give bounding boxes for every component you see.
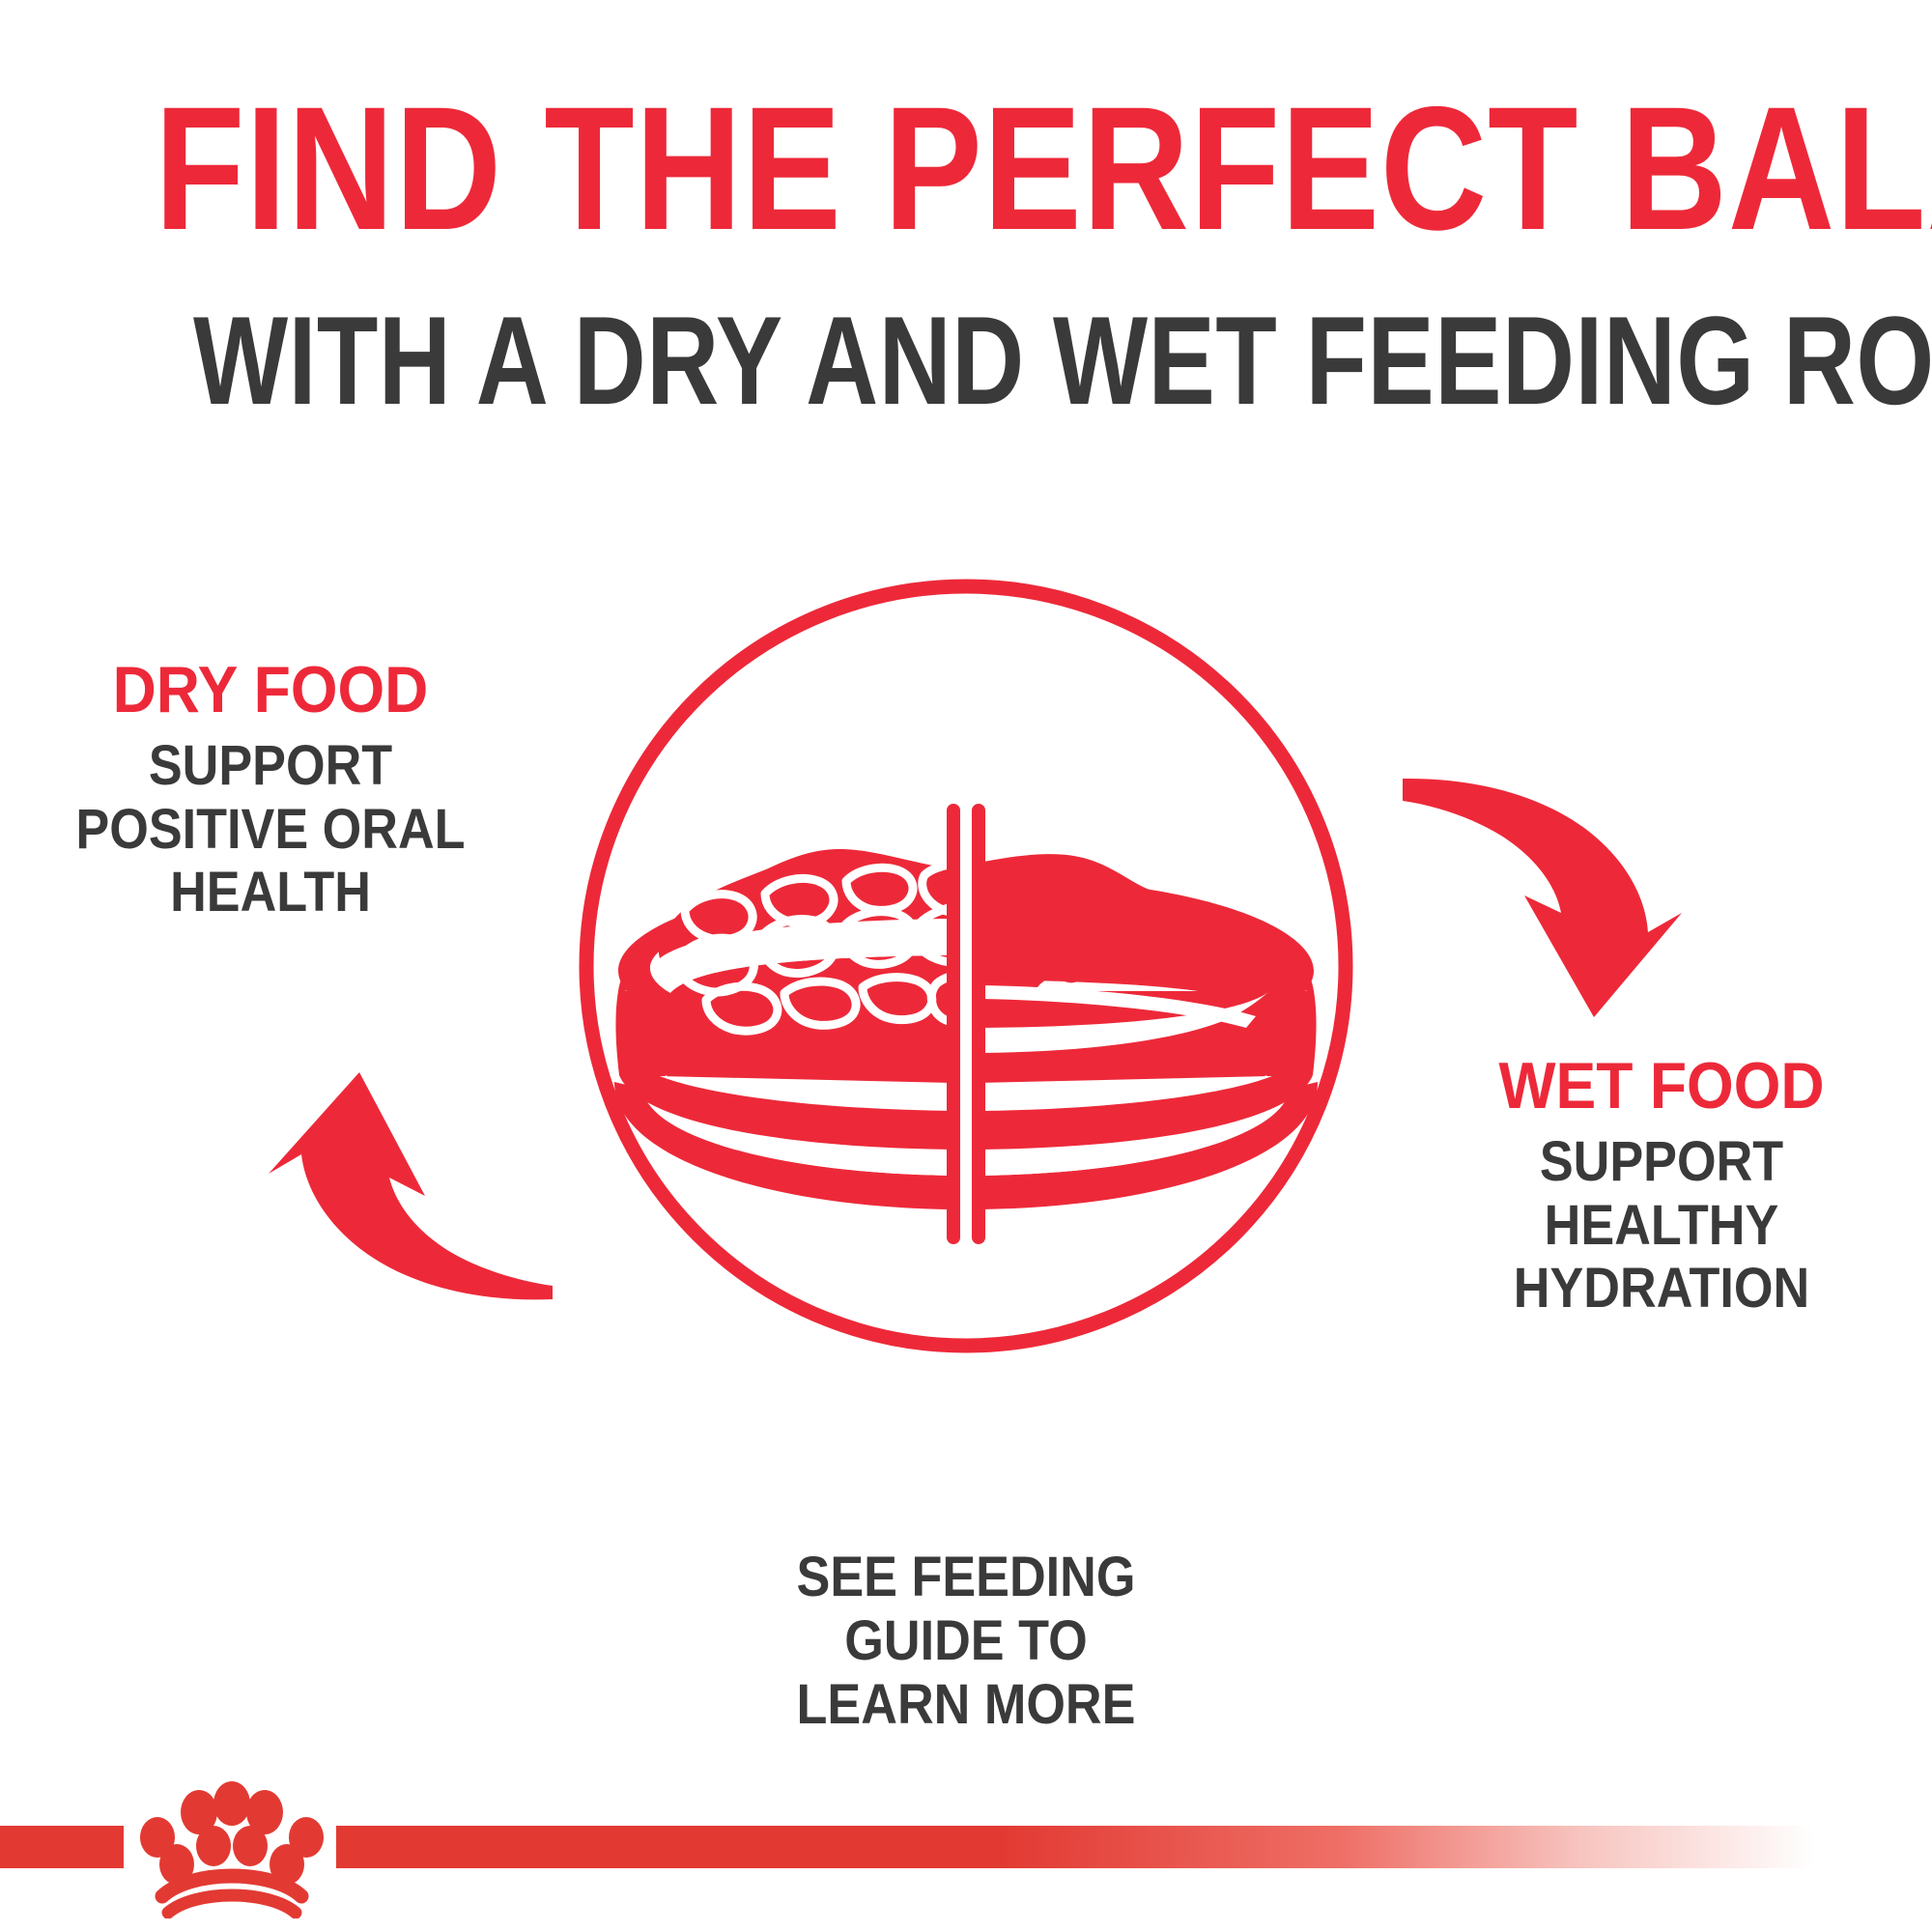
poster-canvas: FIND THE PERFECT BALANCE WITH A DRY AND … — [0, 0, 1932, 1932]
callout-dry-line-1: SUPPORT — [62, 734, 479, 798]
callout-dry-food: DRY FOOD SUPPORT POSITIVE ORAL HEALTH — [39, 657, 502, 924]
page-subtitle: WITH A DRY AND WET FEEDING ROUTINE — [0, 305, 1932, 415]
subheadline-text: WITH A DRY AND WET FEEDING ROUTINE — [193, 305, 1739, 415]
callout-wet-line-1: SUPPORT HEALTHY — [1435, 1130, 1888, 1257]
headline-text: FIND THE PERFECT BALANCE — [155, 93, 1777, 244]
curved-arrow-down-right-icon — [1403, 779, 1682, 1017]
callout-dry-line-3: HEALTH — [62, 861, 479, 924]
callout-dry-title: DRY FOOD — [57, 657, 484, 723]
curved-arrow-up-left-icon — [269, 1072, 553, 1299]
page-title: FIND THE PERFECT BALANCE — [0, 93, 1932, 244]
bowl-right-wet-half — [979, 854, 1317, 1083]
footer-rule-right-icon — [336, 1826, 1814, 1868]
circle-outline-icon — [586, 586, 1346, 1346]
vertical-divider-icon — [947, 804, 985, 1244]
footer — [0, 1758, 1932, 1932]
caption-line-1: SEE FEEDING — [705, 1546, 1227, 1609]
royal-canin-crown-paw-logo-icon — [135, 1776, 328, 1918]
footer-rule-left-icon — [0, 1826, 124, 1868]
callout-dry-line-2: POSITIVE ORAL — [62, 798, 479, 862]
bowl-base-ring — [614, 1063, 1318, 1209]
bowl-left-dry-half — [615, 849, 953, 1083]
caption-line-3: LEARN MORE — [705, 1673, 1227, 1737]
callout-wet-title: WET FOOD — [1431, 1053, 1892, 1119]
callout-wet-line-2: HYDRATION — [1435, 1257, 1888, 1321]
feeding-guide-caption: SEE FEEDING GUIDE TO LEARN MORE — [676, 1546, 1256, 1737]
caption-line-2: GUIDE TO — [705, 1609, 1227, 1673]
callout-wet-food: WET FOOD SUPPORT HEALTHY HYDRATION — [1410, 1053, 1913, 1321]
